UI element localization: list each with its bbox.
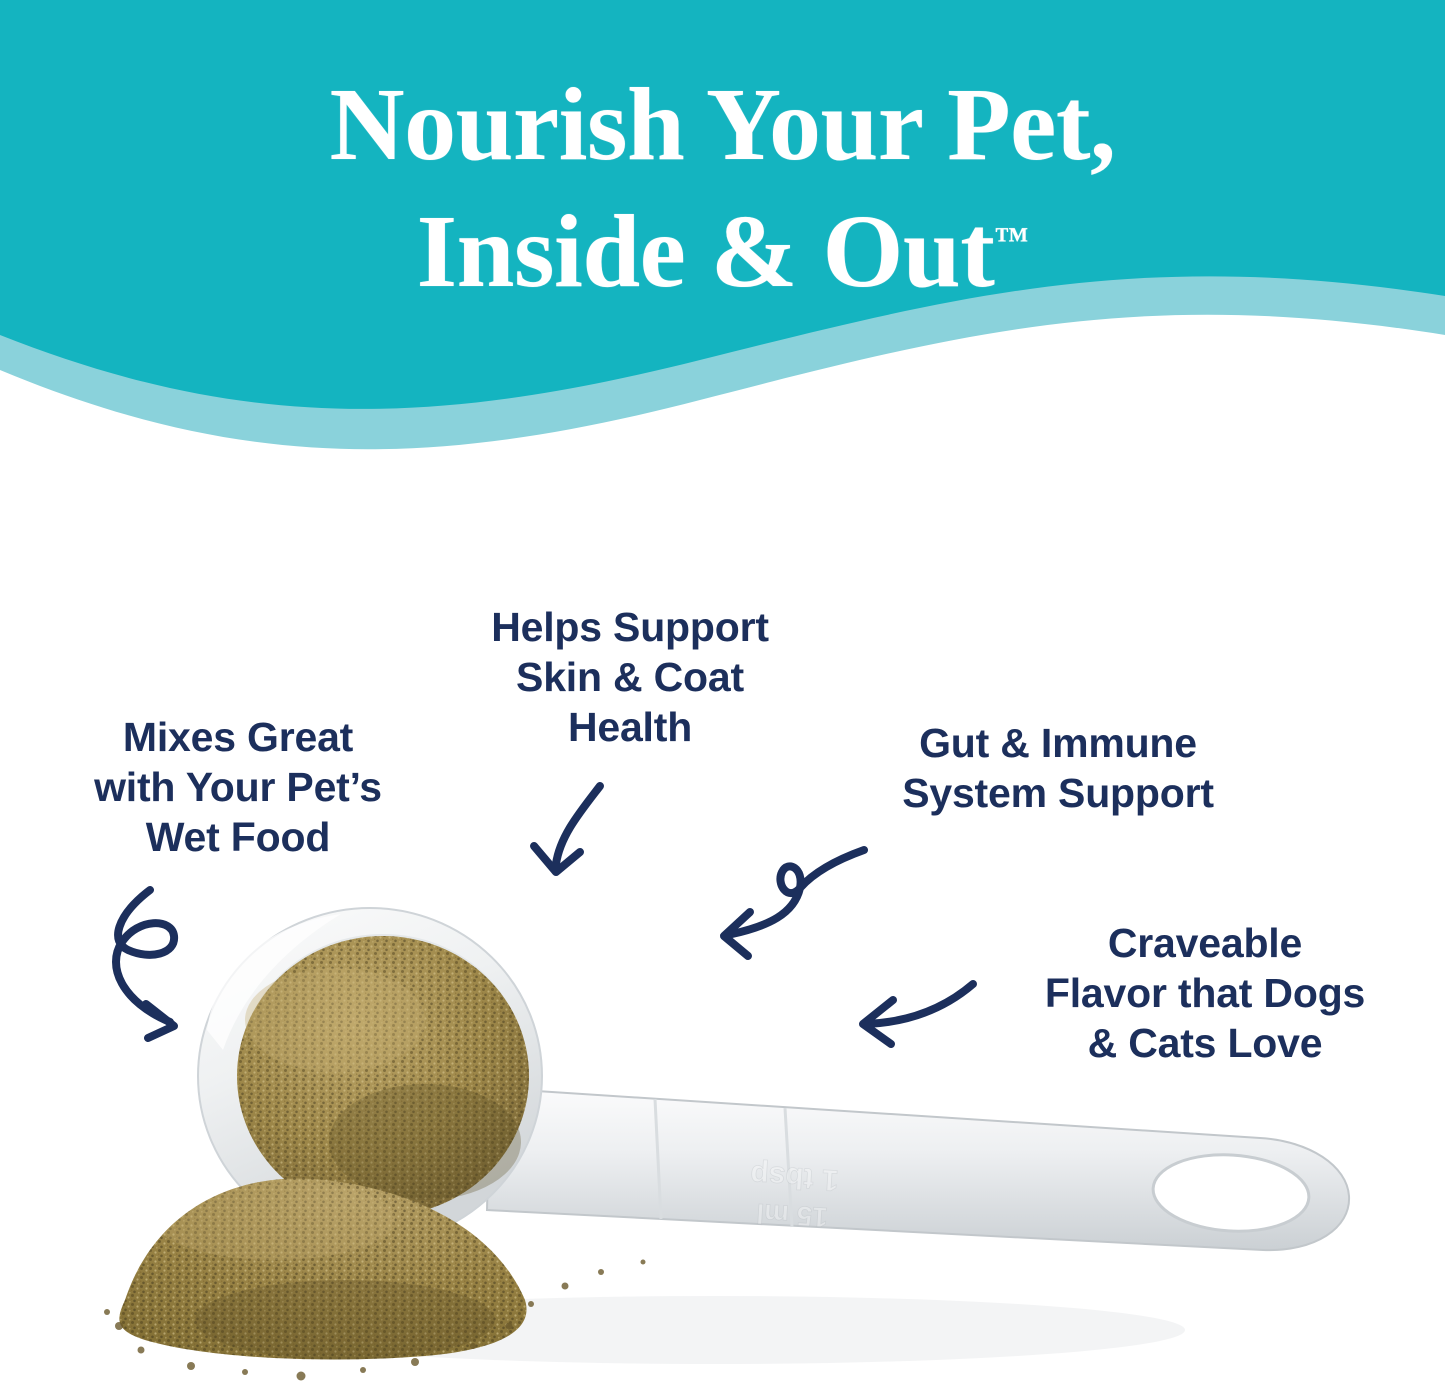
- callout-label-skin-coat-health: Helps Support Skin & Coat Health: [430, 602, 830, 752]
- callout-label-mixes-great: Mixes Great with Your Pet’s Wet Food: [48, 712, 428, 862]
- svg-text:15 ml: 15 ml: [755, 1198, 828, 1233]
- header-banner: Nourish Your Pet, Inside & Out™: [0, 0, 1445, 470]
- callout-label-gut-immune-support: Gut & Immune System Support: [848, 718, 1268, 818]
- callout-label-craveable-flavor: Craveable Flavor that Dogs & Cats Love: [980, 918, 1430, 1068]
- curly-loop-arrow-down-right-icon: [88, 880, 258, 1060]
- curved-arrow-left-icon: [845, 968, 985, 1058]
- wave-main-band: [0, 0, 1445, 409]
- product-infographic: Nourish Your Pet, Inside & Out™: [0, 0, 1445, 1396]
- svg-text:1 tbsp: 1 tbsp: [749, 1158, 839, 1196]
- scoop-handle: 1 tbsp 15 ml: [487, 1088, 1349, 1250]
- powder-in-bowl: [237, 936, 529, 1216]
- curved-arrow-down-icon: [522, 778, 632, 888]
- curly-loop-arrow-down-left-icon: [698, 838, 878, 968]
- header-wave-graphic: [0, 0, 1445, 470]
